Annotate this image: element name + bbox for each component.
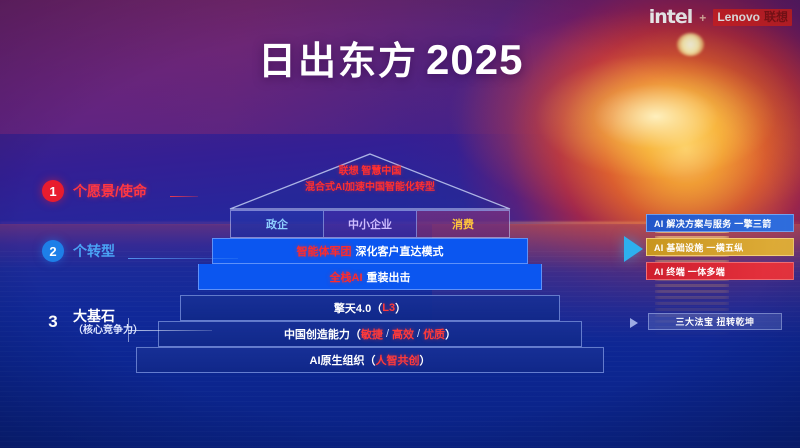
apex-line-1: 联想 智慧中国	[120, 164, 620, 180]
apex-line-2: 混合式AI加速中国智能化转型	[120, 180, 620, 196]
foundation-row-2-sep-1: /	[386, 328, 389, 340]
logo-group: intel + Lenovo 联想	[649, 8, 792, 27]
sun-icon	[677, 33, 704, 56]
foundation-row-qingtian[interactable]: 擎天4.0（L3）	[180, 295, 560, 321]
callout-ai-solutions[interactable]: AI 解决方案与服务 一擎三箭	[646, 214, 794, 232]
label-vision-number: 1	[42, 180, 64, 202]
label-foundation-number: 3	[42, 311, 64, 333]
pyramid-apex: 联想 智慧中国 混合式AI加速中国智能化转型	[120, 152, 620, 210]
foundation-row-2-prefix: 中国创造能力（	[284, 326, 361, 342]
label-vision-text: 个愿景/使命	[73, 183, 147, 199]
foundation-row-2-highlight-1: 敏捷	[361, 326, 383, 342]
foundation-row-2-sep-2: /	[417, 328, 420, 340]
page-title-year: 2025	[426, 36, 523, 83]
arrow-right-icon	[624, 236, 643, 262]
callout-ai-infrastructure[interactable]: AI 基础设施 一横五纵	[646, 238, 794, 256]
label-transformation-number: 2	[42, 240, 64, 262]
transformation-bar-1[interactable]: 智能体军团 深化客户直达模式	[212, 238, 528, 264]
transformation-bar-1-highlight: 智能体军团	[297, 243, 352, 259]
label-transformation: 2 个转型	[42, 240, 115, 262]
foundation-row-ai-native-org[interactable]: AI原生组织（人智共创）	[136, 347, 604, 373]
pyramid-diagram: 联想 智慧中国 混合式AI加速中国智能化转型 政企 中小企业 消费 智能体军团 …	[120, 152, 620, 380]
segment-consumer[interactable]: 消费	[417, 211, 509, 237]
page-title-cn: 日出东方	[258, 41, 418, 83]
foundation-row-1-prefix: 擎天4.0（	[334, 300, 382, 316]
label-transformation-text: 个转型	[73, 243, 115, 259]
lenovo-logo-cn: 联想	[764, 11, 788, 24]
foundation-row-china-creation[interactable]: 中国创造能力（敏捷/高效/优质）	[158, 321, 582, 347]
intel-logo: intel	[649, 8, 693, 27]
callout-ai-devices[interactable]: AI 终端 一体多端	[646, 262, 794, 280]
segment-row: 政企 中小企业 消费	[230, 210, 510, 238]
page-title: 日出东方2025	[258, 30, 523, 85]
lenovo-logo: Lenovo 联想	[713, 9, 792, 26]
magic-note: 三大法宝 扭转乾坤	[648, 313, 782, 330]
label-foundation-text: 大基石 （核心竞争力）	[73, 308, 143, 337]
label-foundation-main: 大基石	[73, 308, 115, 324]
foundation-row-3-prefix: AI原生组织（	[310, 352, 376, 368]
transformation-bar-2-highlight: 全栈AI	[330, 269, 363, 285]
foundation-row-2-suffix: ）	[445, 326, 456, 342]
foundation-row-2-highlight-2: 高效	[392, 326, 414, 342]
leader-line-transformation	[128, 258, 238, 259]
label-vision: 1 个愿景/使命	[42, 180, 147, 202]
foundation-row-3-suffix: ）	[420, 352, 431, 368]
lenovo-logo-en: Lenovo	[717, 11, 760, 24]
foundation-row-1-suffix: ）	[395, 300, 406, 316]
slide-canvas: 日出东方2025 intel + Lenovo 联想 联想 智慧中国 混合式AI…	[0, 0, 800, 448]
label-foundation-sub: （核心竞争力）	[73, 325, 143, 337]
foundation-row-3-highlight: 人智共创	[376, 352, 420, 368]
leader-line-vision	[170, 196, 198, 197]
transformation-bar-2[interactable]: 全栈AI 重装出击	[198, 264, 542, 290]
arrow-small-right-icon	[630, 318, 638, 328]
transformation-bar-2-text: 重装出击	[367, 269, 411, 285]
transformation-bar-1-text: 深化客户直达模式	[356, 243, 444, 259]
foundation-row-2-highlight-3: 优质	[423, 326, 445, 342]
apex-text: 联想 智慧中国 混合式AI加速中国智能化转型	[120, 164, 620, 195]
foundation-row-1-highlight: L3	[382, 302, 395, 314]
plus-icon: +	[699, 12, 706, 24]
label-foundation: 3 大基石 （核心竞争力）	[42, 308, 143, 337]
segment-smb[interactable]: 中小企业	[324, 211, 417, 237]
segment-government-enterprise[interactable]: 政企	[231, 211, 324, 237]
